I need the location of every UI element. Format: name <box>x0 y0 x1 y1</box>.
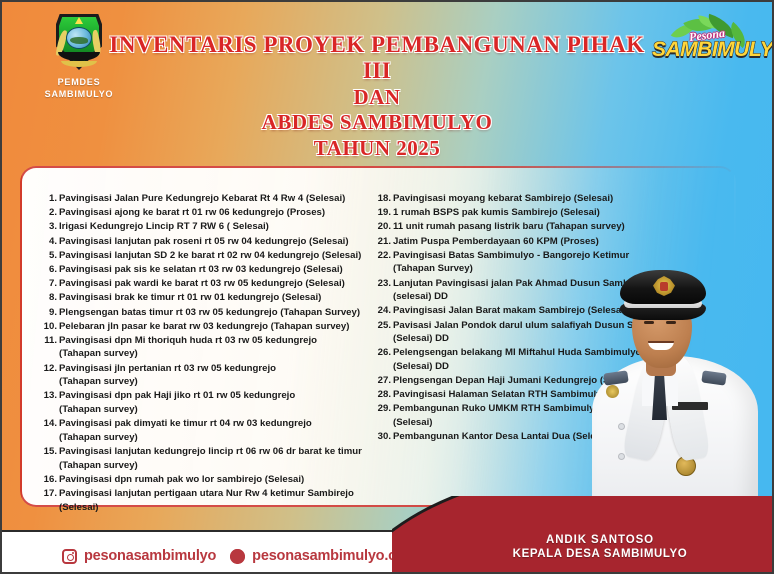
list-item-number: 21. <box>376 235 391 249</box>
list-item-number: 15. <box>42 445 57 459</box>
list-item: 4.Pavingisasi lanjutan pak roseni rt 05 … <box>42 235 364 249</box>
list-item: 30.Pembangunan Kantor Desa Lantai Dua (S… <box>376 430 706 444</box>
list-item-number: 23. <box>376 277 391 291</box>
list-item-number: 5. <box>42 249 57 263</box>
list-item-text: Pavingisasi pak sis ke selatan rt 03 rw … <box>59 264 343 275</box>
list-item-number: 30. <box>376 430 391 444</box>
list-item: 13.Pavingisasi dpn pak Haji jiko rt 01 r… <box>42 389 364 416</box>
list-item-text: Jatim Puspa Pemberdayaan 60 KPM (Proses) <box>393 236 599 247</box>
list-item-text: Pavingisasi ajong ke barat rt 01 rw 06 k… <box>59 207 325 218</box>
poster-header: PEMDES SAMBIMULYO INVENTARIS PROYEK PEMB… <box>2 2 774 154</box>
title-conjunction: DAN <box>107 86 647 110</box>
instagram-icon <box>62 549 77 564</box>
list-item-text: Pelengsengan belakang MI Miftahul Huda S… <box>393 347 641 372</box>
list-item: 8.Pavingisasi brak ke timur rt 01 rw 01 … <box>42 291 364 305</box>
list-item-text: Pavingisasi brak ke timur rt 01 rw 01 ke… <box>59 292 321 303</box>
signature-role: KEPALA DESA SAMBIMULYO <box>450 547 750 561</box>
list-item-text: 11 unit rumah pasang listrik baru (Tahap… <box>393 221 625 232</box>
list-item-text: Pelebaran jln pasar ke barat rw 03 kedun… <box>59 321 349 332</box>
list-item-text: Pavingisasi Halaman Selatan RTH Sambimul… <box>393 389 607 400</box>
list-item-text: Lanjutan Pavingisasi jalan Pak Ahmad Dus… <box>393 278 649 303</box>
list-item-number: 14. <box>42 417 57 431</box>
list-item-number: 26. <box>376 346 391 360</box>
list-item-text: Pavingisasi dpn Mi thoriquh huda rt 03 r… <box>59 335 317 360</box>
list-item-number: 17. <box>42 487 57 501</box>
list-item: 16.Pavingisasi dpn rumah pak wo lor samb… <box>42 473 364 487</box>
globe-icon <box>230 549 245 564</box>
list-item: 9.Plengsengan batas timur rt 03 rw 05 ke… <box>42 306 364 320</box>
signature-block: ANDIK SANTOSO KEPALA DESA SAMBIMULYO <box>450 533 750 561</box>
list-item-number: 8. <box>42 291 57 305</box>
list-item: 15.Pavingisasi lanjutan kedungrejo linci… <box>42 445 364 472</box>
list-item-text: Irigasi Kedungrejo Lincip RT 7 RW 6 ( Se… <box>59 221 269 232</box>
list-item: 11.Pavingisasi dpn Mi thoriquh huda rt 0… <box>42 334 364 361</box>
signature-name: ANDIK SANTOSO <box>450 533 750 547</box>
list-item-text: Pavingisasi dpn pak Haji jiko rt 01 rw 0… <box>59 390 295 415</box>
project-list-right: 18.Pavingisasi moyang kebarat Sambirejo … <box>376 192 706 444</box>
list-item-number: 6. <box>42 263 57 277</box>
project-list-right-column: 18.Pavingisasi moyang kebarat Sambirejo … <box>376 192 706 497</box>
project-list-left-column: 1.Pavingisasi Jalan Pure Kedungrejo Keba… <box>42 192 364 497</box>
list-item-text: Pavingisasi lanjutan pertigaan utara Nur… <box>59 488 354 513</box>
poster-canvas: PEMDES SAMBIMULYO INVENTARIS PROYEK PEMB… <box>0 0 774 574</box>
list-item-number: 25. <box>376 319 391 333</box>
list-item-text: Pavingisasi dpn rumah pak wo lor sambire… <box>59 474 304 485</box>
instagram-link[interactable]: pesonasambimulyo <box>62 548 216 564</box>
list-item-number: 1. <box>42 192 57 206</box>
list-item-number: 16. <box>42 473 57 487</box>
list-item: 5.Pavingisasi lanjutan SD 2 ke barat rt … <box>42 249 364 263</box>
page-title: INVENTARIS PROYEK PEMBANGUNAN PIHAK III <box>107 32 647 84</box>
list-item: 2.Pavingisasi ajong ke barat rt 01 rw 06… <box>42 206 364 220</box>
list-item-text: Pavingisasi jln pertanian rt 03 rw 05 ke… <box>59 363 276 388</box>
list-item-text: Pavingisasi Jalan Barat makam Sambirejo … <box>393 305 643 316</box>
list-item: 20.11 unit rumah pasang listrik baru (Ta… <box>376 220 706 234</box>
list-item: 7.Pavingisasi pak wardi ke barat rt 03 r… <box>42 277 364 291</box>
list-item-number: 12. <box>42 362 57 376</box>
list-item: 24.Pavingisasi Jalan Barat makam Sambire… <box>376 304 706 318</box>
list-item-text: Pavingisasi Jalan Pure Kedungrejo Kebara… <box>59 193 345 204</box>
regency-coat-of-arms-icon <box>56 14 102 70</box>
list-item: 3.Irigasi Kedungrejo Lincip RT 7 RW 6 ( … <box>42 220 364 234</box>
list-item-number: 7. <box>42 277 57 291</box>
social-links: pesonasambimulyo pesonasambimulyo.com <box>62 548 417 564</box>
list-item-number: 3. <box>42 220 57 234</box>
list-item-text: 1 rumah BSPS pak kumis Sambirejo (Selesa… <box>393 207 600 218</box>
website-link[interactable]: pesonasambimulyo.com <box>230 548 417 564</box>
list-item-number: 20. <box>376 220 391 234</box>
title-subtitle: ABDES SAMBIMULYO <box>107 111 647 135</box>
list-item-number: 24. <box>376 304 391 318</box>
list-item-number: 10. <box>42 320 57 334</box>
list-item: 1.Pavingisasi Jalan Pure Kedungrejo Keba… <box>42 192 364 206</box>
list-item-number: 13. <box>42 389 57 403</box>
list-item-text: Pavingisasi moyang kebarat Sambirejo (Se… <box>393 193 613 204</box>
list-item-text: Pembangunan Kantor Desa Lantai Dua (Sele… <box>393 431 612 442</box>
project-list-left: 1.Pavingisasi Jalan Pure Kedungrejo Keba… <box>42 192 364 514</box>
list-item-text: Pavingisasi pak wardi ke barat rt 03 rw … <box>59 278 345 289</box>
list-item-number: 11. <box>42 334 57 348</box>
list-item-number: 4. <box>42 235 57 249</box>
list-item-number: 2. <box>42 206 57 220</box>
list-item-number: 19. <box>376 206 391 220</box>
list-item-number: 29. <box>376 402 391 416</box>
pesona-wordmark: SAMBIMULYO <box>652 38 762 62</box>
list-item: 25.Pavisasi Jalan Pondok darul ulum sala… <box>376 319 706 346</box>
list-item-text: Pembangunan Ruko UMKM RTH Sambimulyo (Se… <box>393 403 600 428</box>
list-item: 17.Pavingisasi lanjutan pertigaan utara … <box>42 487 364 514</box>
list-item-text: Pavingisasi Batas Sambimulyo - Bangorejo… <box>393 250 629 275</box>
poster-title-block: INVENTARIS PROYEK PEMBANGUNAN PIHAK III … <box>107 32 647 160</box>
pesona-sambimulyo-logo: Pesona SAMBIMULYO <box>652 16 762 72</box>
list-item-text: Pavisasi Jalan Pondok darul ulum salafiy… <box>393 320 673 345</box>
list-item: 29.Pembangunan Ruko UMKM RTH Sambimulyo … <box>376 402 706 429</box>
list-item: 18.Pavingisasi moyang kebarat Sambirejo … <box>376 192 706 206</box>
list-item-text: Plengsengan Depan Haji Jumani Kedungrejo… <box>393 375 659 386</box>
list-item: 12.Pavingisasi jln pertanian rt 03 rw 05… <box>42 362 364 389</box>
list-item: 19.1 rumah BSPS pak kumis Sambirejo (Sel… <box>376 206 706 220</box>
list-item-text: Pavingisasi pak dimyati ke timur rt 04 r… <box>59 418 312 443</box>
list-item-text: Plengsengan batas timur rt 03 rw 05 kedu… <box>59 307 360 318</box>
list-item-number: 27. <box>376 374 391 388</box>
list-item-number: 18. <box>376 192 391 206</box>
list-item-number: 28. <box>376 388 391 402</box>
title-year: TAHUN 2025 <box>107 137 647 161</box>
list-item: 10.Pelebaran jln pasar ke barat rw 03 ke… <box>42 320 364 334</box>
list-item-number: 22. <box>376 249 391 263</box>
list-item: 21.Jatim Puspa Pemberdayaan 60 KPM (Pros… <box>376 235 706 249</box>
list-item-text: Pavingisasi lanjutan pak roseni rt 05 rw… <box>59 236 349 247</box>
list-item: 26.Pelengsengan belakang MI Miftahul Hud… <box>376 346 706 373</box>
list-item: 14.Pavingisasi pak dimyati ke timur rt 0… <box>42 417 364 444</box>
list-item-text: Pavingisasi lanjutan SD 2 ke barat rt 02… <box>59 250 361 261</box>
list-item: 23.Lanjutan Pavingisasi jalan Pak Ahmad … <box>376 277 706 304</box>
project-list-container: 1.Pavingisasi Jalan Pure Kedungrejo Keba… <box>20 166 736 507</box>
list-item: 22.Pavingisasi Batas Sambimulyo - Bangor… <box>376 249 706 276</box>
list-item: 6.Pavingisasi pak sis ke selatan rt 03 r… <box>42 263 364 277</box>
instagram-handle: pesonasambimulyo <box>84 548 216 564</box>
list-item: 28.Pavingisasi Halaman Selatan RTH Sambi… <box>376 388 706 402</box>
list-item: 27.Plengsengan Depan Haji Jumani Kedungr… <box>376 374 706 388</box>
list-item-text: Pavingisasi lanjutan kedungrejo lincip r… <box>59 446 362 471</box>
list-item-number: 9. <box>42 306 57 320</box>
